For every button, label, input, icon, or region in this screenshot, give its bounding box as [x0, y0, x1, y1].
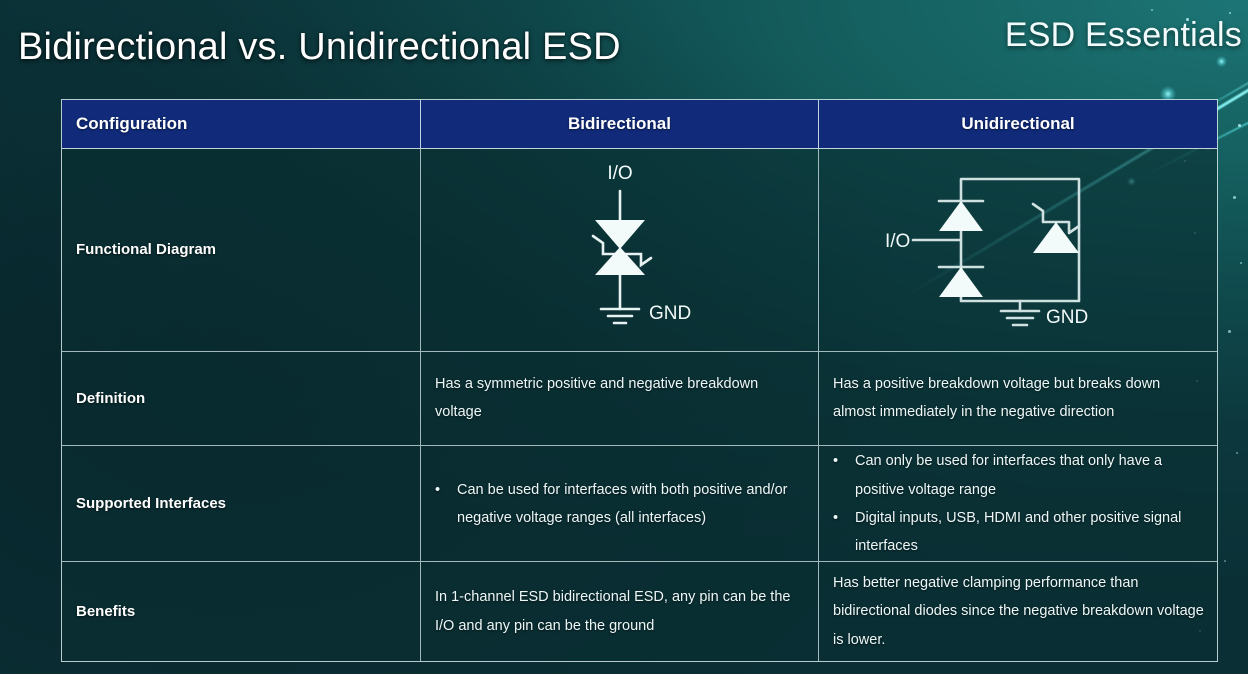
- gnd-label: GND: [1046, 307, 1088, 328]
- row-label-cell: Definition: [62, 352, 421, 446]
- star-dot-icon: [1233, 196, 1236, 199]
- star-dot-icon: [1224, 560, 1226, 562]
- column-header-label: Unidirectional: [819, 114, 1217, 134]
- table-row: Benefits In 1-channel ESD bidirectional …: [62, 562, 1217, 661]
- gnd-label: GND: [649, 303, 691, 324]
- column-header-configuration: Configuration: [62, 100, 421, 148]
- table-row: Supported Interfaces • Can be used for i…: [62, 446, 1217, 562]
- row-label: Definition: [62, 390, 145, 407]
- table-header-row: Configuration Bidirectional Unidirection…: [62, 100, 1217, 149]
- row-label: Benefits: [62, 603, 135, 620]
- list-item: • Can be used for interfaces with both p…: [435, 476, 808, 533]
- column-header-label: Configuration: [62, 114, 187, 134]
- list-item: • Digital inputs, USB, HDMI and other po…: [833, 504, 1207, 561]
- list-item-label: Digital inputs, USB, HDMI and other posi…: [855, 504, 1207, 561]
- bidirectional-benefits-cell: In 1-channel ESD bidirectional ESD, any …: [421, 562, 819, 661]
- list-item: • Can only be used for interfaces that o…: [833, 447, 1207, 504]
- io-label: I/O: [885, 231, 910, 252]
- unidirectional-interfaces-cell: • Can only be used for interfaces that o…: [819, 446, 1217, 561]
- io-label: I/O: [607, 163, 632, 184]
- list-item-label: Can be used for interfaces with both pos…: [457, 476, 808, 533]
- column-header-unidirectional: Unidirectional: [819, 100, 1217, 148]
- diode-triangle-lower: [939, 267, 983, 297]
- page-title: Bidirectional vs. Unidirectional ESD: [18, 26, 621, 69]
- star-glow-icon: [1216, 56, 1227, 67]
- bullet-list: • Can be used for interfaces with both p…: [421, 476, 818, 533]
- star-dot-icon: [1238, 124, 1241, 127]
- star-dot-icon: [1151, 9, 1153, 11]
- diode-triangle-upper: [939, 201, 983, 231]
- bullet-icon: •: [833, 504, 855, 561]
- cell-text: Has a symmetric positive and negative br…: [421, 370, 818, 427]
- bullet-icon: •: [833, 447, 855, 504]
- table-row: Definition Has a symmetric positive and …: [62, 352, 1217, 447]
- table-row: Functional Diagram: [62, 149, 1217, 352]
- bidirectional-definition-cell: Has a symmetric positive and negative br…: [421, 352, 819, 446]
- cell-text: Has a positive breakdown voltage but bre…: [819, 370, 1217, 427]
- unidirectional-definition-cell: Has a positive breakdown voltage but bre…: [819, 352, 1217, 446]
- bidirectional-interfaces-cell: • Can be used for interfaces with both p…: [421, 446, 819, 561]
- unidirectional-benefits-cell: Has better negative clamping performance…: [819, 562, 1217, 661]
- star-dot-icon: [1228, 330, 1231, 333]
- comparison-table: Configuration Bidirectional Unidirection…: [61, 99, 1218, 662]
- bullet-icon: •: [435, 476, 457, 533]
- star-dot-icon: [1240, 262, 1242, 264]
- bidirectional-esd-diode-icon: I/O GND: [515, 157, 725, 342]
- row-label-cell: Supported Interfaces: [62, 446, 421, 561]
- column-header-bidirectional: Bidirectional: [421, 100, 819, 148]
- unidirectional-esd-diode-icon: I/O GND: [883, 157, 1153, 342]
- star-dot-icon: [1229, 12, 1231, 14]
- bullet-list: • Can only be used for interfaces that o…: [819, 447, 1217, 560]
- cell-text: In 1-channel ESD bidirectional ESD, any …: [421, 583, 818, 640]
- list-item-label: Can only be used for interfaces that onl…: [855, 447, 1207, 504]
- star-dot-icon: [1236, 452, 1238, 454]
- row-label: Functional Diagram: [62, 241, 216, 258]
- unidirectional-diagram-cell: I/O GND: [819, 149, 1217, 351]
- row-label-cell: Benefits: [62, 562, 421, 661]
- brand-label: ESD Essentials: [1005, 16, 1242, 55]
- zener-triangle: [1033, 222, 1079, 253]
- bidirectional-diagram-cell: I/O GND: [421, 149, 819, 351]
- column-header-label: Bidirectional: [421, 114, 818, 134]
- cell-text: Has better negative clamping performance…: [819, 569, 1217, 654]
- row-label-cell: Functional Diagram: [62, 149, 421, 351]
- row-label: Supported Interfaces: [62, 495, 226, 512]
